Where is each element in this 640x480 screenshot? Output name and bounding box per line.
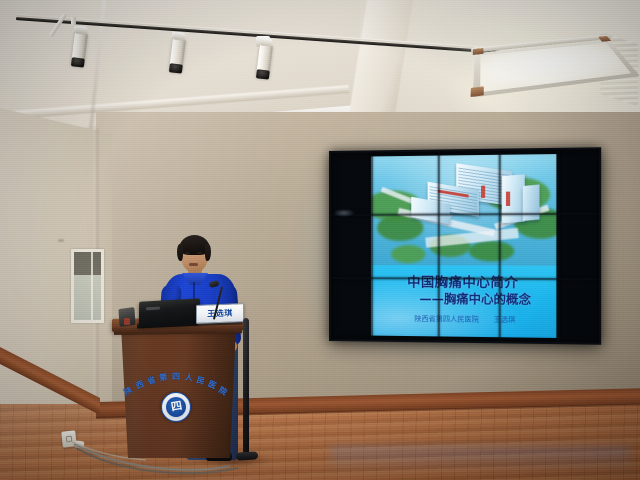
presenter-hair-side [177, 244, 183, 261]
slide-byline: 陕西省第四人民医院 王选琪 [385, 314, 546, 326]
lecture-hall-photo: 中国胸痛中心简介 ——胸痛中心的概念 陕西省第四人民医院 王选琪 [0, 0, 640, 480]
slide-title: 中国胸痛中心简介 [377, 271, 550, 291]
laptop-icon[interactable] [139, 298, 200, 326]
podium-org-char: 院 [217, 384, 229, 398]
presenter-eye [197, 252, 202, 254]
podium-org-char: 人 [184, 372, 193, 384]
speaker-name: 王选琪 [207, 308, 233, 320]
podium-org-char: 医 [206, 378, 218, 391]
presenter-mouth [189, 263, 198, 266]
wall-mark [58, 239, 64, 242]
screen-reflection-on-floor [330, 446, 630, 480]
slide-content-area: 中国胸痛中心简介 ——胸痛中心的概念 陕西省第四人民医院 王选琪 [371, 154, 557, 338]
hospital-logo-icon: 四 [161, 392, 191, 422]
window-mullion [91, 252, 93, 320]
speaker-nameplate: 王选琪 [196, 303, 244, 324]
presenter-hair-side [205, 244, 211, 261]
slide-hospital-aerial-photo [371, 154, 557, 266]
presenter-eye [185, 252, 190, 254]
frosted-glass-window [71, 249, 104, 323]
screen-glare [333, 209, 355, 217]
floor-mic-stand-base [236, 451, 258, 460]
podium-org-char: 民 [195, 374, 206, 387]
panel-light-clip [473, 48, 484, 55]
video-wall-display[interactable]: 中国胸痛中心简介 ——胸痛中心的概念 陕西省第四人民医院 王选琪 [329, 147, 601, 345]
podium-desk-object-accent [124, 318, 130, 325]
panel-light-clip [470, 86, 483, 97]
podium-org-char: 西 [134, 378, 146, 391]
floor-mic-stand-pole [243, 318, 249, 460]
podium-org-char: 省 [146, 374, 157, 387]
podium-org-char: 四 [172, 371, 180, 382]
laptop-brand-logo [146, 307, 160, 311]
podium-org-char: 第 [159, 372, 168, 384]
track-hanger [71, 17, 76, 25]
slide-subtitle: ——胸痛中心的概念 [395, 289, 556, 308]
presenter-shirt-placket [193, 282, 195, 300]
bezel-seam-vertical [557, 148, 559, 344]
slide-title-band: 中国胸痛中心简介 ——胸痛中心的概念 陕西省第四人民医院 王选琪 [371, 265, 557, 338]
